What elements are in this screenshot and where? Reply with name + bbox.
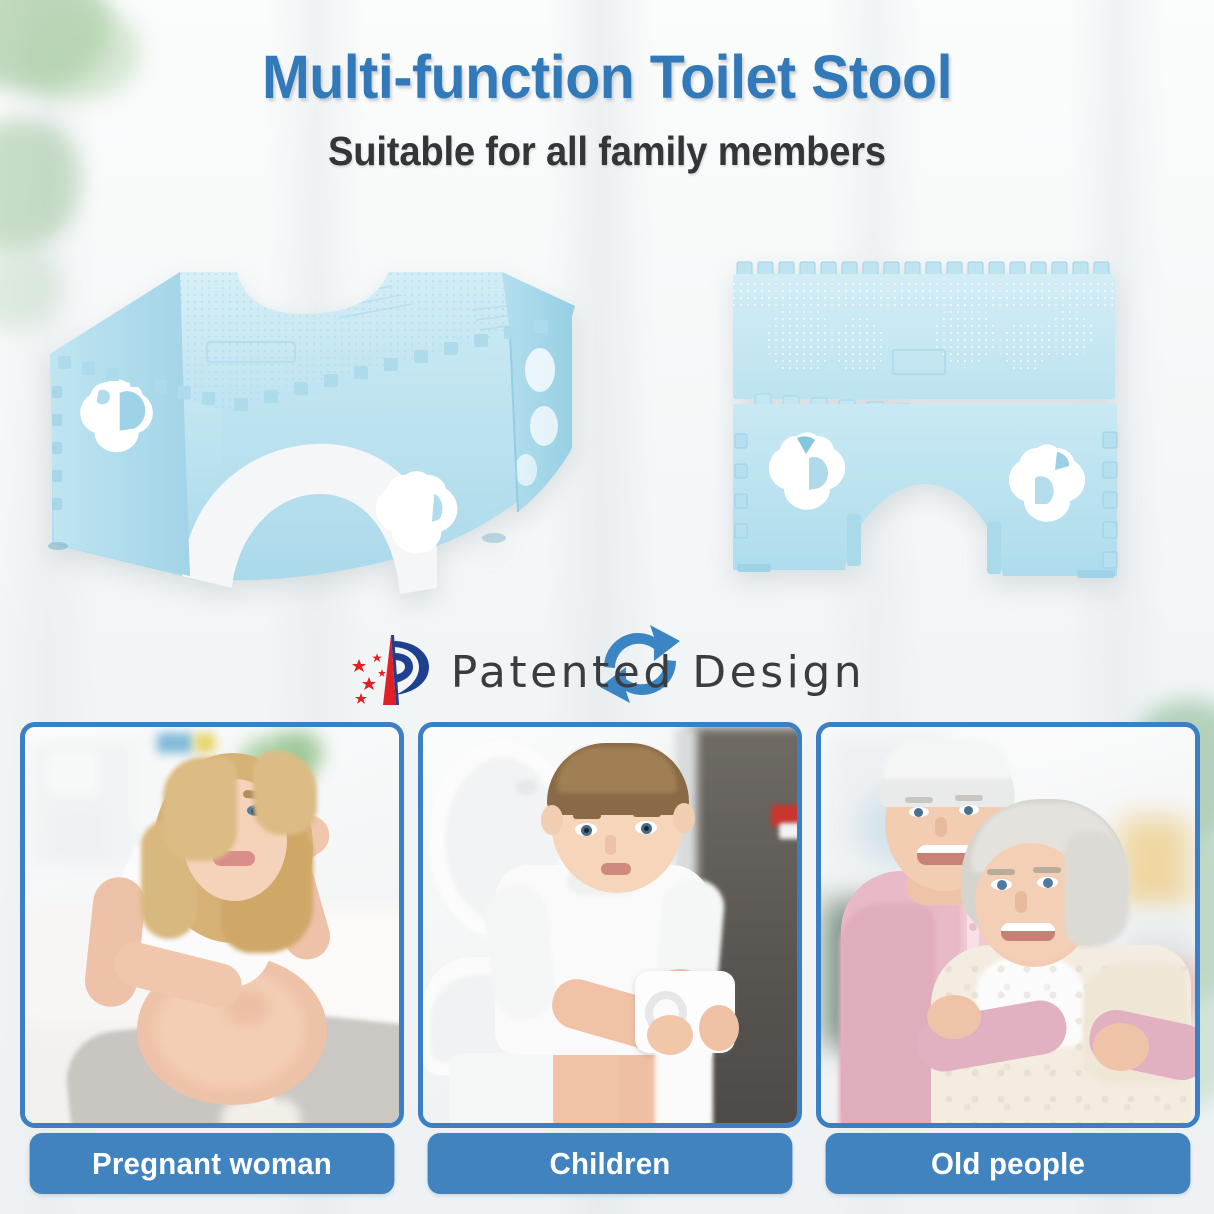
patented-design-label: Patented Design [451, 647, 865, 698]
photo-frame-old-people [816, 722, 1200, 1128]
child-on-toilet-photo [423, 727, 797, 1123]
caption-old-people: Old people [826, 1133, 1191, 1194]
patented-design-row: Patented Design [0, 626, 1214, 718]
patent-p-logo-icon [349, 631, 435, 713]
unfolded-stool-image [32, 258, 592, 603]
caption-children: Children [428, 1133, 793, 1194]
product-showcase [0, 240, 1214, 620]
pregnant-woman-photo [25, 727, 399, 1123]
card-pregnant-woman[interactable]: Pregnant woman [20, 722, 404, 1194]
photo-frame-pregnant-woman [20, 722, 404, 1128]
elderly-couple-photo [821, 727, 1195, 1123]
page-title: Multi-function Toilet Stool [36, 42, 1177, 112]
page-subtitle: Suitable for all family members [42, 128, 1171, 175]
use-case-cards: Pregnant woman [20, 722, 1200, 1194]
caption-pregnant-woman: Pregnant woman [30, 1133, 395, 1194]
photo-frame-children [418, 722, 802, 1128]
folded-stool-image [725, 254, 1135, 609]
header: Multi-function Toilet Stool Suitable for… [0, 0, 1214, 200]
card-old-people[interactable]: Old people [816, 722, 1200, 1194]
card-children[interactable]: Children [418, 722, 802, 1194]
